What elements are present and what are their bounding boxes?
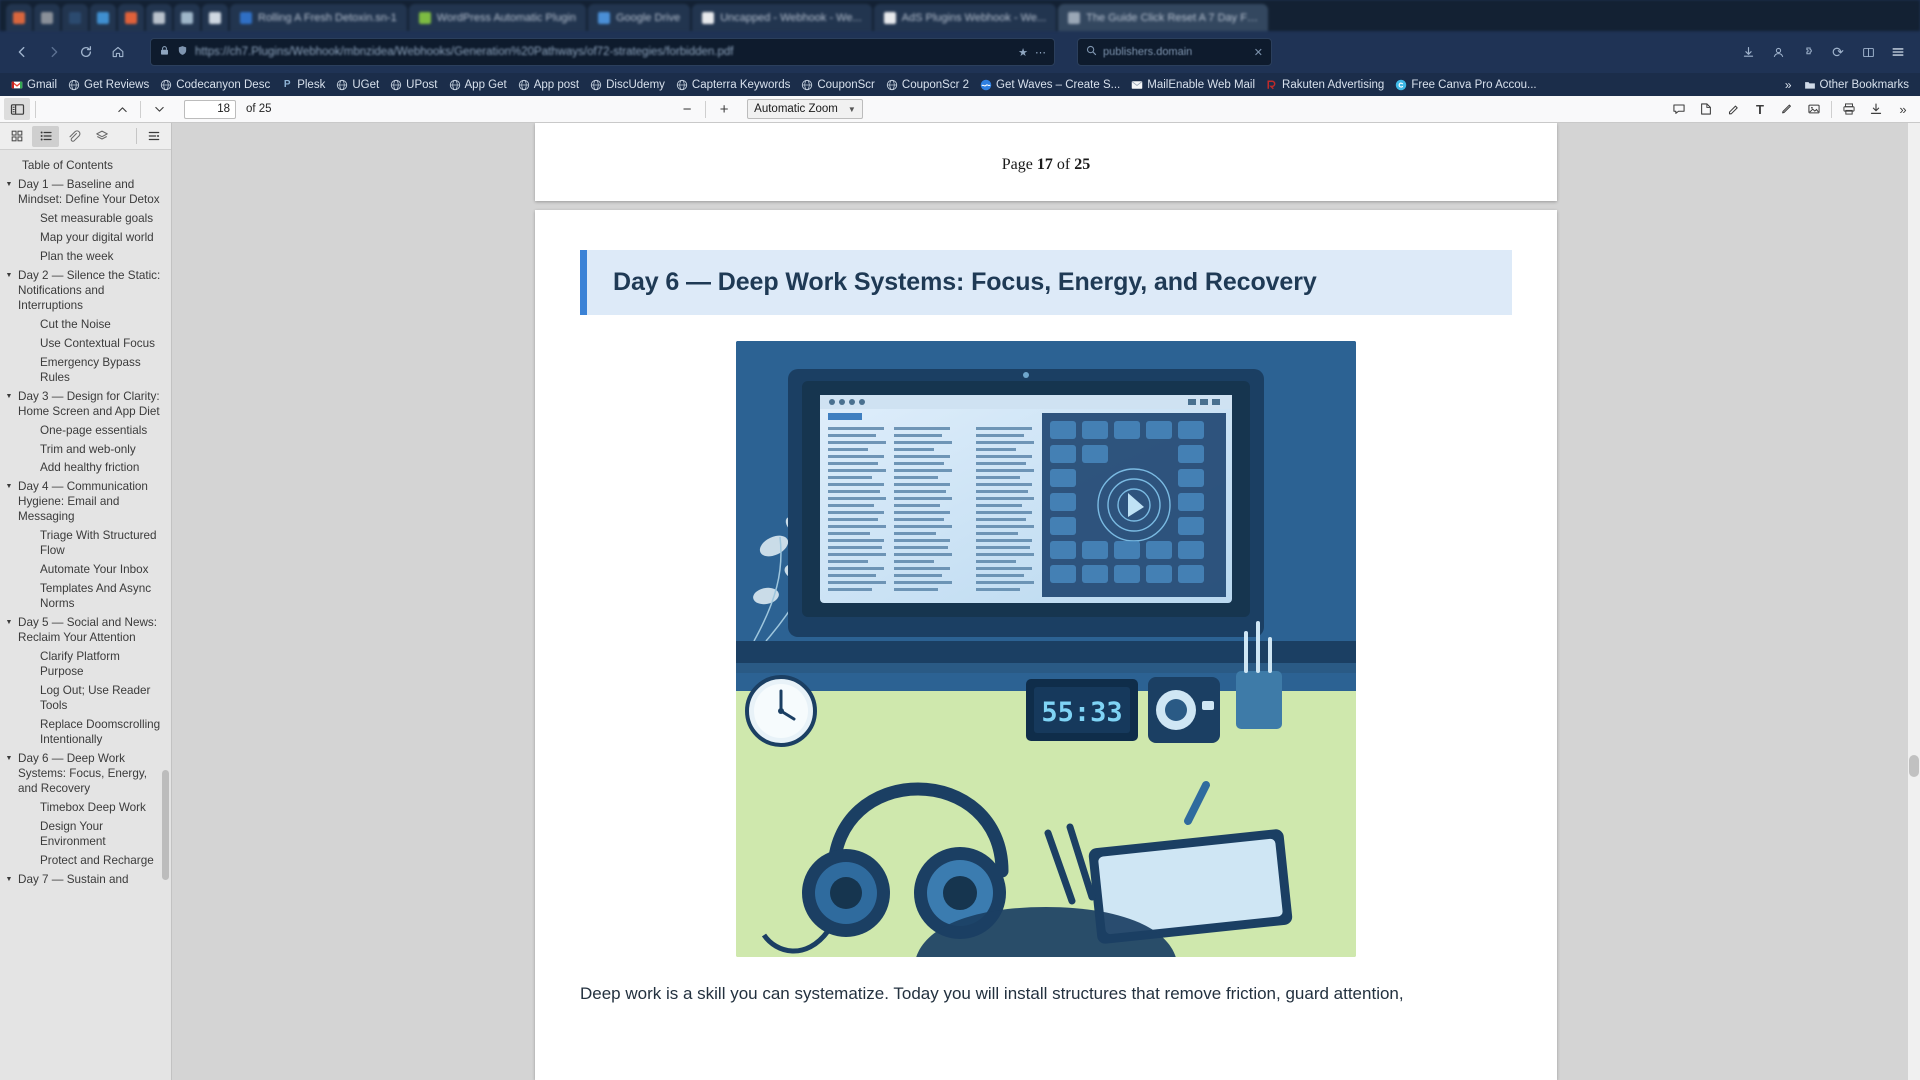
- browser-tab[interactable]: [6, 4, 32, 31]
- tab-favicon: [181, 12, 193, 24]
- browser-tab[interactable]: Uncapped - Webhook - We...: [692, 4, 871, 31]
- other-bookmarks-folder[interactable]: Other Bookmarks: [1799, 77, 1914, 93]
- mail-icon: [1131, 79, 1143, 91]
- outline-item-label: Protect and Recharge: [18, 854, 161, 869]
- bookmark-item[interactable]: UPost: [385, 77, 442, 93]
- outline-item-label: Automate Your Inbox: [18, 563, 161, 578]
- bookmark-item[interactable]: App post: [513, 77, 584, 93]
- hamburger-menu-icon[interactable]: [1884, 38, 1912, 66]
- gmail-icon: [11, 79, 23, 91]
- outline-item-label: Map your digital world: [18, 231, 161, 246]
- bookmark-item[interactable]: DiscUdemy: [585, 77, 670, 93]
- zoom-in-button[interactable]: +: [711, 98, 737, 120]
- pdf-page: Day 6 — Deep Work Systems: Focus, Energy…: [535, 210, 1557, 1080]
- outline-heading-label: Table of Contents: [18, 159, 161, 174]
- image-icon[interactable]: [1801, 98, 1827, 120]
- outline-item-label: Clarify Platform Purpose: [18, 650, 161, 680]
- padlock-icon: [159, 45, 170, 59]
- browser-tab[interactable]: Rolling A Fresh Detoxin.sn-1: [230, 4, 407, 31]
- outline-subitem[interactable]: ▼One-page essentials: [0, 422, 171, 441]
- globe-icon: [336, 79, 348, 91]
- scrollbar-thumb[interactable]: [1909, 755, 1919, 777]
- outline-subitem[interactable]: ▼Emergency Bypass Rules: [0, 354, 171, 388]
- outline-item-label: Templates And Async Norms: [18, 582, 161, 612]
- outline-icon[interactable]: [32, 126, 58, 147]
- outline-subitem[interactable]: ▼Automate Your Inbox: [0, 561, 171, 580]
- bookmark-label: Rakuten Advertising: [1282, 79, 1384, 91]
- pdf-body: ▼Table of Contents▼Day 1 — Baseline and …: [0, 123, 1920, 1080]
- outline-subitem[interactable]: ▼Timebox Deep Work: [0, 799, 171, 818]
- outline-item-label: Day 5 — Social and News: Reclaim Your At…: [18, 616, 161, 646]
- bookmark-label: App post: [534, 79, 579, 91]
- search-icon: [1086, 45, 1097, 59]
- outline-item-label: Day 2 — Silence the Static: Notification…: [18, 269, 161, 314]
- save-icon[interactable]: [1863, 98, 1889, 120]
- browser-tab[interactable]: [90, 4, 116, 31]
- tab-title: WordPress Automatic Plugin: [437, 12, 576, 24]
- extensions-icon[interactable]: ⋯: [1035, 46, 1046, 59]
- tab-favicon: [209, 12, 221, 24]
- outline-item-label: Log Out; Use Reader Tools: [18, 684, 161, 714]
- outline-section[interactable]: ▼Day 5 — Social and News: Reclaim Your A…: [0, 614, 171, 648]
- page-total-label: of 25: [246, 103, 272, 115]
- bookmark-label: Get Waves – Create S...: [996, 79, 1120, 91]
- search-bar[interactable]: publishers.domain ✕: [1077, 38, 1272, 66]
- tab-title: Google Drive: [616, 12, 680, 24]
- tab-favicon: [69, 12, 81, 24]
- sidebar-toggle-icon[interactable]: [4, 98, 30, 120]
- highlight-icon[interactable]: [1720, 98, 1746, 120]
- footer-prefix: Page: [1002, 156, 1033, 174]
- page-number-input[interactable]: 18: [184, 100, 236, 119]
- bookmark-item[interactable]: UGet: [331, 77, 384, 93]
- comment-icon[interactable]: [1666, 98, 1692, 120]
- browser-tab[interactable]: WordPress Automatic Plugin: [409, 4, 586, 31]
- globe-icon: [676, 79, 688, 91]
- downloads-icon[interactable]: [1734, 38, 1762, 66]
- zoom-level-label: Automatic Zoom: [754, 103, 838, 115]
- outline-item-label: Emergency Bypass Rules: [18, 356, 161, 386]
- bookmark-item[interactable]: Get Waves – Create S...: [975, 77, 1125, 93]
- outline-subitem[interactable]: ▼Templates And Async Norms: [0, 580, 171, 614]
- zoom-out-button[interactable]: −: [674, 98, 700, 120]
- bookmark-item[interactable]: Free Canva Pro Accou...: [1390, 77, 1541, 93]
- browser-tab[interactable]: AdS Plugins Webhook - We...: [874, 4, 1057, 31]
- toolbar-divider-2: [140, 101, 141, 118]
- bookmark-label: UGet: [352, 79, 379, 91]
- back-button[interactable]: [8, 38, 36, 66]
- bookmark-label: UPost: [406, 79, 437, 91]
- other-bookmarks-label: Other Bookmarks: [1820, 79, 1909, 91]
- globe-icon: [801, 79, 813, 91]
- outline-item-label: Day 3 — Design for Clarity: Home Screen …: [18, 390, 161, 420]
- extension-puzzle-icon[interactable]: [1794, 38, 1822, 66]
- bookmark-item[interactable]: Get Reviews: [63, 77, 154, 93]
- reload-button[interactable]: [72, 38, 100, 66]
- expand-triangle-icon[interactable]: ▼: [0, 616, 18, 628]
- pdf-sidebar: ▼Table of Contents▼Day 1 — Baseline and …: [0, 123, 172, 1080]
- previous-page-button[interactable]: [109, 98, 135, 120]
- outline-item-label: One-page essentials: [18, 424, 161, 439]
- url-text: https://ch7.Plugins/Webhook/mbnzidea/Web…: [195, 46, 1011, 58]
- document-outline[interactable]: ▼Table of Contents▼Day 1 — Baseline and …: [0, 150, 171, 1080]
- outline-subitem[interactable]: ▼Set measurable goals: [0, 210, 171, 229]
- browser-tab[interactable]: [62, 4, 88, 31]
- browser-tab[interactable]: The Guide Click Reset A 7 Day Fo...: [1058, 4, 1268, 31]
- tab-title: Rolling A Fresh Detoxin.sn-1: [258, 12, 397, 24]
- outline-subitem[interactable]: ▼Map your digital world: [0, 229, 171, 248]
- attachments-icon[interactable]: [61, 126, 87, 147]
- bookmark-item[interactable]: Capterra Keywords: [671, 77, 795, 93]
- split-view-icon[interactable]: [1854, 38, 1882, 66]
- more-tools-icon[interactable]: »: [1890, 98, 1916, 120]
- expand-triangle-icon[interactable]: ▼: [0, 480, 18, 492]
- bookmark-label: Free Canva Pro Accou...: [1411, 79, 1536, 91]
- tab-favicon: [13, 12, 25, 24]
- tab-favicon: [1068, 12, 1080, 24]
- outline-item-label: Use Contextual Focus: [18, 337, 161, 352]
- outline-item-label: Design Your Environment: [18, 820, 161, 850]
- outline-tools-icon[interactable]: [141, 126, 167, 147]
- layers-icon[interactable]: [89, 126, 115, 147]
- expand-triangle-icon[interactable]: ▼: [0, 390, 18, 402]
- bookmark-label: DiscUdemy: [606, 79, 665, 91]
- tab-favicon: [702, 12, 714, 24]
- browser-window: Rolling A Fresh Detoxin.sn-1WordPress Au…: [0, 0, 1920, 1080]
- edit-document-icon[interactable]: [1693, 98, 1719, 120]
- outline-item-label: Plan the week: [18, 250, 161, 265]
- canva-icon: [1395, 79, 1407, 91]
- outline-subitem[interactable]: ▼Triage With Structured Flow: [0, 527, 171, 561]
- shield-icon[interactable]: [177, 45, 188, 59]
- tab-favicon: [41, 12, 53, 24]
- toolbar-right-group: ⟳: [1734, 38, 1912, 66]
- tab-favicon: [419, 12, 431, 24]
- forward-button[interactable]: [40, 38, 68, 66]
- footer-mid: of: [1057, 156, 1070, 174]
- page-footer-text: Page 17 of 25: [535, 123, 1557, 185]
- outline-subitem[interactable]: ▼Add healthy friction: [0, 459, 171, 478]
- globe-icon: [590, 79, 602, 91]
- outline-section[interactable]: ▼Day 7 — Sustain and: [0, 871, 171, 890]
- body-paragraph: Deep work is a skill you can systematize…: [580, 981, 1512, 1007]
- tab-favicon: [240, 12, 252, 24]
- thumbnails-icon[interactable]: [4, 126, 30, 147]
- globe-icon: [68, 79, 80, 91]
- outline-subitem[interactable]: ▼Design Your Environment: [0, 818, 171, 852]
- globe-icon: [518, 79, 530, 91]
- outline-item-label: Cut the Noise: [18, 318, 161, 333]
- outline-item-label: Set measurable goals: [18, 212, 161, 227]
- tab-favicon: [598, 12, 610, 24]
- outline-section[interactable]: ▼Day 4 — Communication Hygiene: Email an…: [0, 478, 171, 527]
- bookmark-label: CouponScr: [817, 79, 875, 91]
- outline-subitem[interactable]: ▼Plan the week: [0, 248, 171, 267]
- bookmark-item[interactable]: Rakuten Advertising: [1261, 77, 1389, 93]
- section-heading-band: Day 6 — Deep Work Systems: Focus, Energy…: [580, 250, 1512, 315]
- draw-icon[interactable]: [1774, 98, 1800, 120]
- pdf-viewer: 18 of 25 − + Automatic Zoom ▼: [0, 96, 1920, 1080]
- outline-subitem[interactable]: ▼Log Out; Use Reader Tools: [0, 682, 171, 716]
- expand-triangle-icon[interactable]: ▼: [0, 178, 18, 190]
- outline-item-label: Day 6 — Deep Work Systems: Focus, Energy…: [18, 752, 161, 797]
- home-button[interactable]: [104, 38, 132, 66]
- zoom-controls: − + Automatic Zoom ▼: [674, 98, 863, 120]
- outline-subitem[interactable]: ▼Clarify Platform Purpose: [0, 648, 171, 682]
- bookmark-item[interactable]: MailEnable Web Mail: [1126, 77, 1260, 93]
- expand-triangle-icon[interactable]: ▼: [0, 269, 18, 281]
- tab-favicon: [125, 12, 137, 24]
- tab-favicon: [884, 12, 896, 24]
- bookmark-label: Get Reviews: [84, 79, 149, 91]
- bookmark-label: MailEnable Web Mail: [1147, 79, 1255, 91]
- tab-title: AdS Plugins Webhook - We...: [902, 12, 1047, 24]
- rakuten-icon: [1266, 79, 1278, 91]
- pdf-toolbar: 18 of 25 − + Automatic Zoom ▼: [0, 96, 1920, 123]
- tab-strip: Rolling A Fresh Detoxin.sn-1WordPress Au…: [0, 0, 1920, 31]
- expand-triangle-icon[interactable]: ▼: [0, 873, 18, 885]
- toolbar-divider: [35, 101, 36, 118]
- chevron-down-icon: ▼: [848, 105, 856, 114]
- bookmark-item[interactable]: CouponScr 2: [881, 77, 974, 93]
- browser-tab[interactable]: [34, 4, 60, 31]
- pdf-tools-group: T »: [1666, 98, 1916, 120]
- document-scrollbar[interactable]: [1908, 123, 1920, 1080]
- page-content: Day 6 — Deep Work Systems: Focus, Energy…: [535, 210, 1557, 1007]
- wave-icon: [980, 79, 992, 91]
- navigation-toolbar: https://ch7.Plugins/Webhook/mbnzidea/Web…: [0, 31, 1920, 73]
- account-icon[interactable]: [1764, 38, 1792, 66]
- bookmark-label: Codecanyon Desc: [176, 79, 270, 91]
- outline-section[interactable]: ▼Day 3 — Design for Clarity: Home Screen…: [0, 388, 171, 422]
- outline-subitem[interactable]: ▼Cut the Noise: [0, 316, 171, 335]
- footer-page-number: 17: [1037, 156, 1053, 174]
- sidebar-scrollbar-thumb[interactable]: [162, 770, 169, 880]
- bookmark-item[interactable]: CouponScr: [796, 77, 880, 93]
- svg-text:55:33: 55:33: [1041, 697, 1122, 728]
- globe-icon: [886, 79, 898, 91]
- print-icon[interactable]: [1836, 98, 1862, 120]
- outline-subitem[interactable]: ▼Protect and Recharge: [0, 852, 171, 871]
- bookmark-item[interactable]: App Get: [444, 77, 512, 93]
- outline-item-label: Timebox Deep Work: [18, 801, 161, 816]
- tab-title: The Guide Click Reset A 7 Day Fo...: [1086, 12, 1258, 24]
- tab-favicon: [153, 12, 165, 24]
- globe-icon: [160, 79, 172, 91]
- bookmarks-overflow-button[interactable]: »: [1779, 76, 1798, 94]
- outline-heading[interactable]: ▼Table of Contents: [0, 157, 171, 176]
- browser-tab[interactable]: [174, 4, 200, 31]
- outline-item-label: Day 1 — Baseline and Mindset: Define You…: [18, 178, 161, 208]
- next-page-button[interactable]: [146, 98, 172, 120]
- outline-subitem[interactable]: ▼Trim and web-only: [0, 441, 171, 460]
- outline-item-label: Triage With Structured Flow: [18, 529, 161, 559]
- bookmark-item[interactable]: Codecanyon Desc: [155, 77, 275, 93]
- zoom-divider: [705, 101, 706, 118]
- outline-item-label: Add healthy friction: [18, 461, 161, 476]
- outline-subitem[interactable]: ▼Replace Doomscrolling Intentionally: [0, 716, 171, 750]
- previous-page-footer: Page 17 of 25: [535, 123, 1557, 201]
- plesk-icon: P: [281, 79, 293, 91]
- folder-icon: [1804, 79, 1816, 91]
- expand-triangle-icon[interactable]: ▼: [0, 752, 18, 764]
- search-query-text: publishers.domain: [1103, 46, 1248, 58]
- page-title: Day 6 — Deep Work Systems: Focus, Energy…: [613, 268, 1486, 297]
- tab-favicon: [97, 12, 109, 24]
- tab-title: Uncapped - Webhook - We...: [720, 12, 861, 24]
- outline-item-label: Day 4 — Communication Hygiene: Email and…: [18, 480, 161, 525]
- browser-tab[interactable]: [146, 4, 172, 31]
- document-canvas[interactable]: Page 17 of 25 Day 6 — Deep Work Systems:…: [172, 123, 1920, 1080]
- address-bar[interactable]: https://ch7.Plugins/Webhook/mbnzidea/Web…: [150, 38, 1055, 66]
- bookmark-label: App Get: [465, 79, 507, 91]
- bookmark-star-icon[interactable]: ★: [1018, 46, 1028, 59]
- outline-item-label: Trim and web-only: [18, 443, 161, 458]
- globe-icon: [390, 79, 402, 91]
- bookmark-label: CouponScr 2: [902, 79, 969, 91]
- tools-divider: [1831, 101, 1832, 118]
- sync-icon[interactable]: ⟳: [1824, 38, 1852, 66]
- sidebar-tabs: [0, 123, 171, 150]
- outline-item-label: Replace Doomscrolling Intentionally: [18, 718, 161, 748]
- bookmark-label: Gmail: [27, 79, 57, 91]
- bookmark-label: Capterra Keywords: [692, 79, 790, 91]
- bookmark-label: Plesk: [297, 79, 325, 91]
- browser-tab[interactable]: [202, 4, 228, 31]
- text-icon[interactable]: T: [1747, 98, 1773, 120]
- bookmark-item[interactable]: PPlesk: [276, 77, 330, 93]
- outline-section[interactable]: ▼Day 2 — Silence the Static: Notificatio…: [0, 267, 171, 316]
- bookmarks-bar: GmailGet ReviewsCodecanyon DescPPleskUGe…: [0, 73, 1920, 96]
- outline-item-label: Day 7 — Sustain and: [18, 873, 161, 888]
- outline-section[interactable]: ▼Day 6 — Deep Work Systems: Focus, Energ…: [0, 750, 171, 799]
- footer-total: 25: [1074, 156, 1090, 174]
- outline-subitem[interactable]: ▼Use Contextual Focus: [0, 335, 171, 354]
- outline-section[interactable]: ▼Day 1 — Baseline and Mindset: Define Yo…: [0, 176, 171, 210]
- browser-tab[interactable]: Google Drive: [588, 4, 690, 31]
- browser-tab[interactable]: [118, 4, 144, 31]
- zoom-level-select[interactable]: Automatic Zoom ▼: [747, 99, 863, 119]
- search-clear-icon[interactable]: ✕: [1254, 46, 1263, 59]
- desk-workstation-illustration: 55:33: [736, 341, 1356, 957]
- globe-icon: [449, 79, 461, 91]
- sidebar-tabs-divider: [136, 128, 137, 144]
- bookmark-item[interactable]: Gmail: [6, 77, 62, 93]
